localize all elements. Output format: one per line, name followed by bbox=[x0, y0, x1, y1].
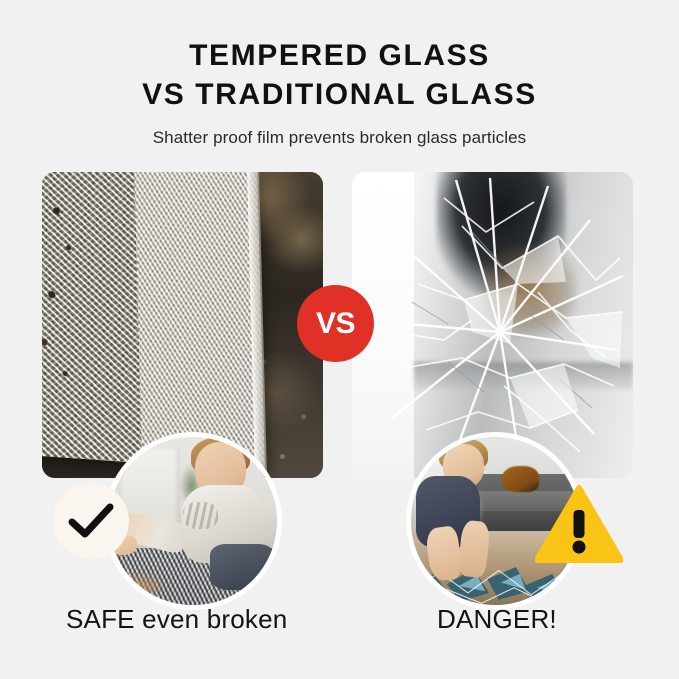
page-subtitle: Shatter proof film prevents broken glass… bbox=[0, 114, 679, 148]
safe-child-image bbox=[109, 437, 277, 605]
safe-child-inset bbox=[104, 432, 282, 610]
page-title: TEMPERED GLASS VS TRADITIONAL GLASS bbox=[0, 0, 679, 114]
check-icon bbox=[68, 503, 114, 539]
toddler-shirt-stripes bbox=[183, 502, 217, 528]
check-badge bbox=[53, 483, 129, 559]
child-figure bbox=[414, 444, 508, 592]
toddler-figure bbox=[166, 442, 277, 597]
glass-granule-texture bbox=[42, 172, 142, 463]
warning-triangle-icon bbox=[535, 484, 623, 564]
page-title-line-1: TEMPERED GLASS bbox=[0, 36, 679, 75]
floor-warm-reflection bbox=[116, 571, 166, 601]
captions: SAFE even broken DANGER! bbox=[0, 604, 679, 654]
tempered-glass-pane bbox=[42, 172, 265, 471]
vs-badge-label: VS bbox=[316, 309, 355, 339]
warning-badge bbox=[535, 484, 623, 564]
page-title-line-2: VS TRADITIONAL GLASS bbox=[0, 75, 679, 114]
header: TEMPERED GLASS VS TRADITIONAL GLASS Shat… bbox=[0, 0, 679, 148]
vs-badge: VS bbox=[297, 285, 374, 362]
toddler-trousers bbox=[210, 544, 274, 590]
